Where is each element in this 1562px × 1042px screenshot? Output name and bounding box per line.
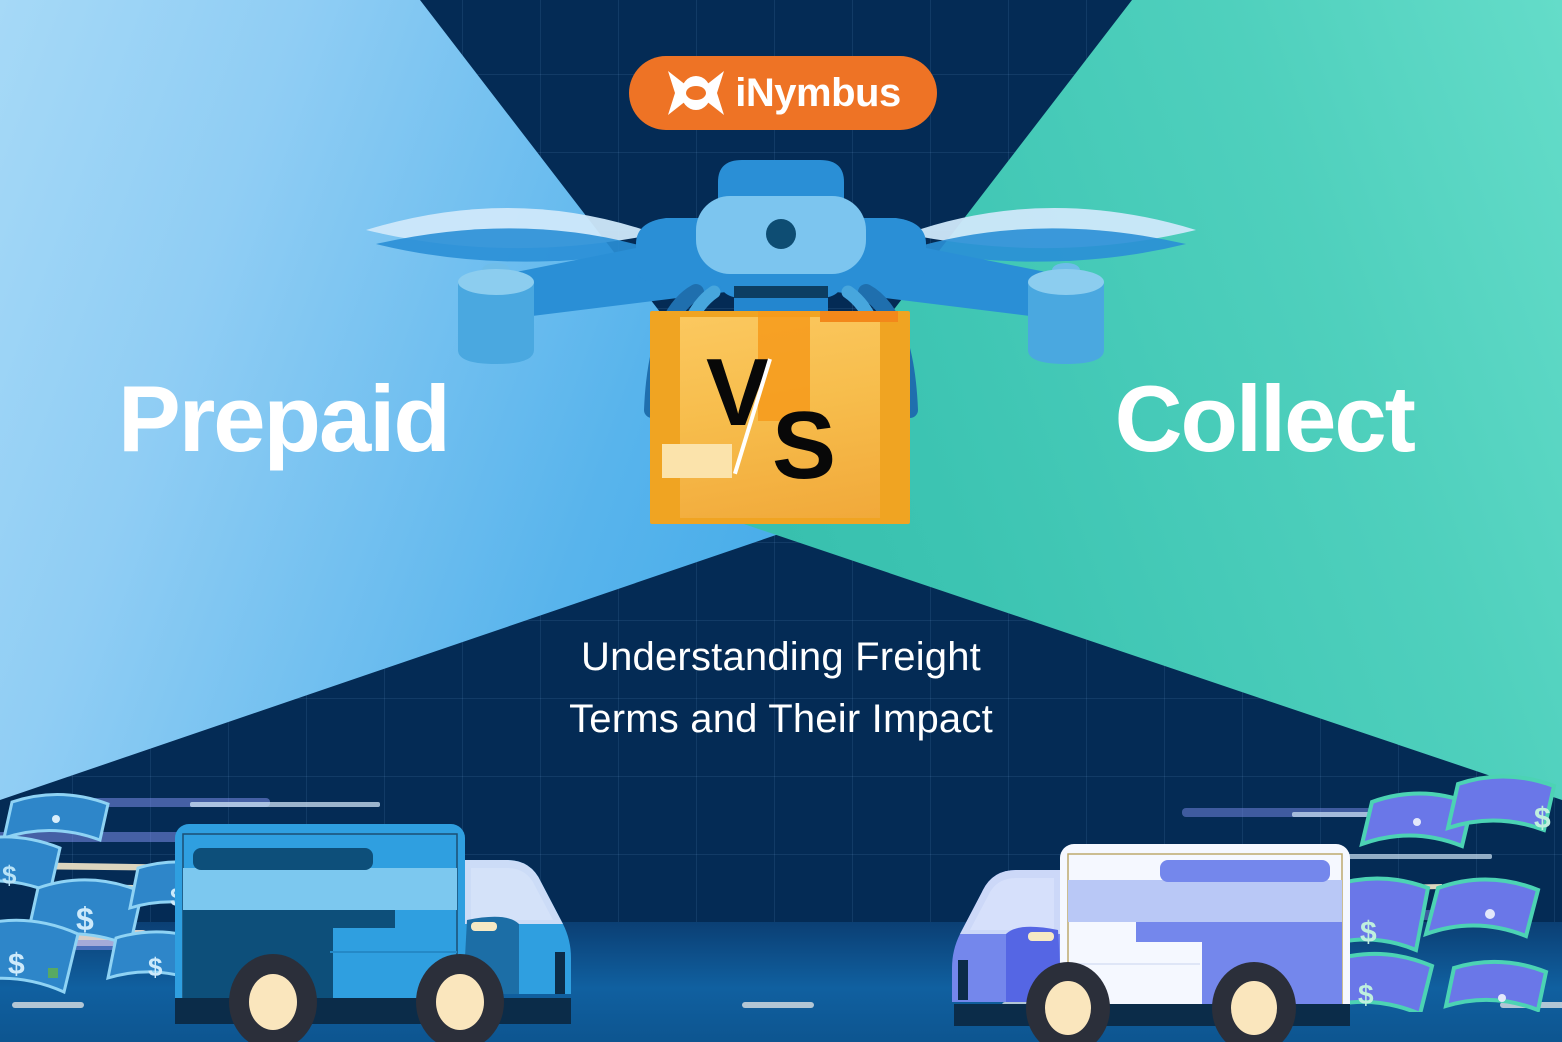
butterfly-x-mark-icon: [665, 69, 727, 117]
svg-text:$: $: [8, 948, 25, 981]
svg-text:$: $: [1534, 802, 1551, 835]
motor-right: [1028, 263, 1104, 364]
inymbus-logo[interactable]: iNymbus: [629, 56, 937, 130]
subtitle: Understanding Freight Terms and Their Im…: [0, 626, 1562, 750]
versus-s-letter: S: [772, 408, 834, 485]
package-box: V S: [650, 311, 910, 524]
subtitle-line-1: Understanding Freight: [0, 626, 1562, 688]
infographic-canvas: $ $ $ $ $: [0, 0, 1562, 1042]
svg-text:$: $: [148, 952, 163, 982]
svg-text:$: $: [1358, 979, 1374, 1010]
right-term-title: Collect: [1115, 372, 1414, 466]
road-dash: [742, 1002, 814, 1008]
motor-left: [458, 263, 534, 364]
left-term-title: Prepaid: [118, 372, 449, 466]
versus-mark: V S: [650, 311, 910, 524]
left-delivery-truck: [175, 812, 635, 1042]
svg-text:$: $: [2, 860, 17, 890]
right-delivery-truck: [890, 812, 1350, 1042]
logo-wordmark: iNymbus: [735, 71, 900, 116]
svg-text:$: $: [76, 901, 94, 937]
svg-text:$: $: [1360, 916, 1377, 949]
road-dash: [12, 1002, 84, 1008]
subtitle-line-2: Terms and Their Impact: [0, 688, 1562, 750]
